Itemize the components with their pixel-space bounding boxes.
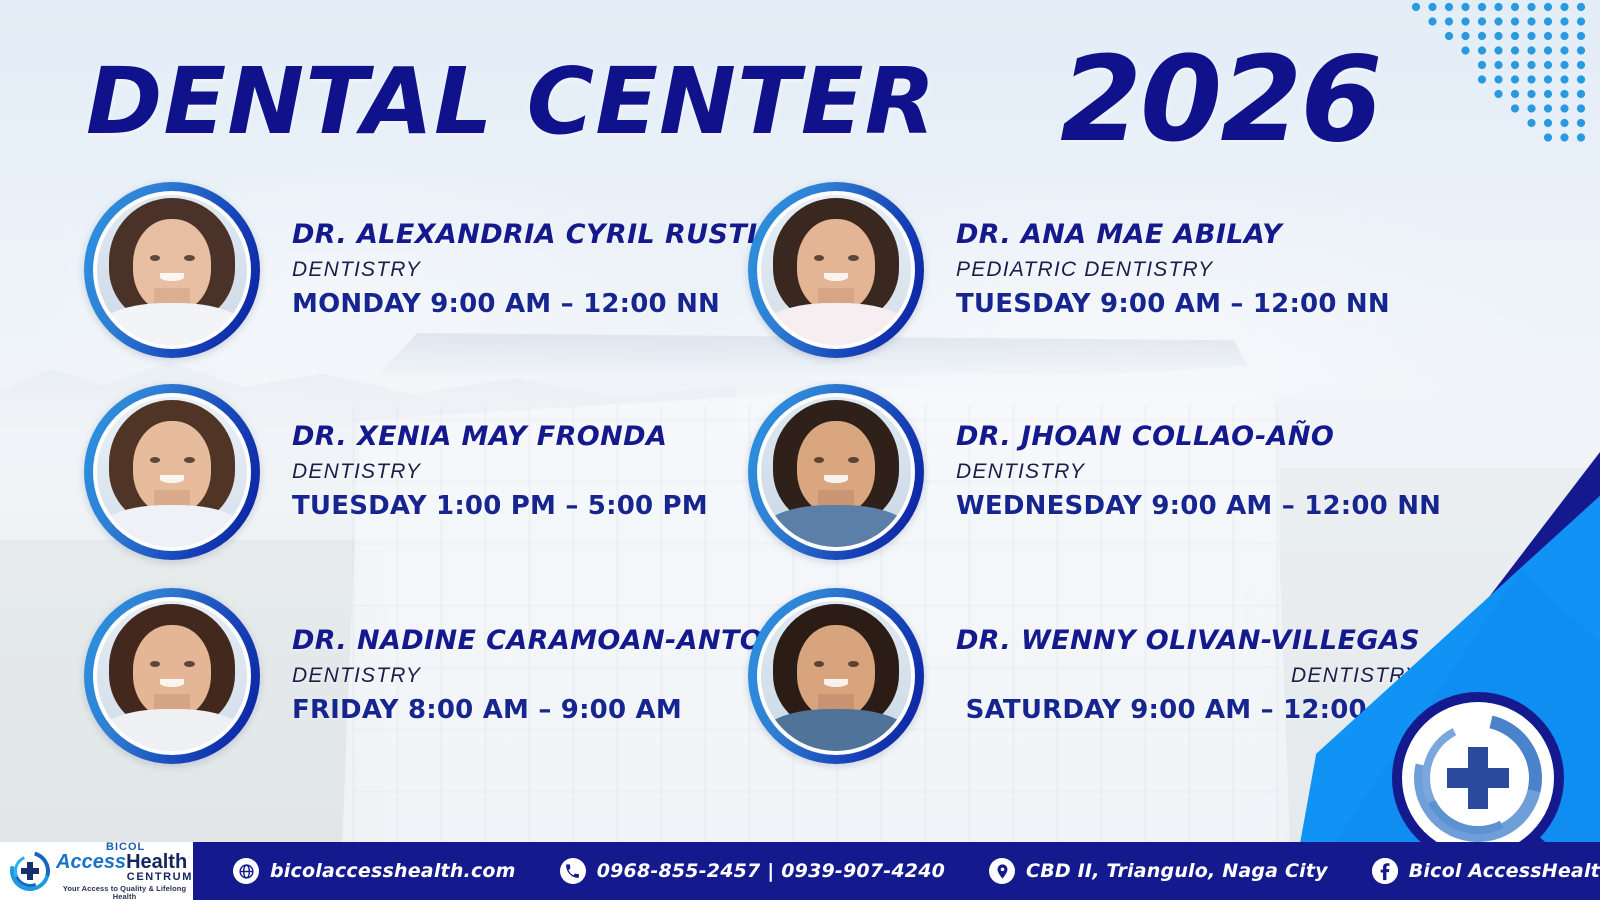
footer-website-text: bicolaccesshealth.com [270, 860, 516, 882]
footer-website[interactable]: bicolaccesshealth.com [233, 858, 516, 884]
medical-cross-badge [1392, 692, 1564, 864]
doctor-schedule: TUESDAY 1:00 PM – 5:00 PM [292, 491, 708, 521]
avatar-ring [748, 384, 924, 560]
doctor-info: DR. ANA MAE ABILAY PEDIATRIC DENTISTRY T… [956, 221, 1390, 318]
schedule-time: 9:00 AM – 12:00 NN [1100, 289, 1390, 319]
doctor-info: DR. ALEXANDRIA CYRIL RUSTIA DENTISTRY MO… [292, 221, 779, 318]
avatar [93, 597, 251, 755]
brand-logo-health: Health [126, 851, 187, 873]
doctor-specialty: DENTISTRY [292, 258, 779, 282]
avatar [757, 191, 915, 349]
doctor-schedule-grid: DR. ALEXANDRIA CYRIL RUSTIA DENTISTRY MO… [0, 182, 1600, 782]
avatar-ring [84, 182, 260, 358]
schedule-day: SATURDAY [966, 695, 1121, 725]
doctor-schedule: TUESDAY 9:00 AM – 12:00 NN [956, 289, 1390, 319]
footer-phone[interactable]: 0968-855-2457 | 0939-907-4240 [560, 858, 945, 884]
doctor-specialty: DENTISTRY [956, 460, 1441, 484]
doctor-specialty: PEDIATRIC DENTISTRY [956, 258, 1390, 282]
schedule-day: MONDAY [292, 289, 421, 319]
doctor-schedule: FRIDAY 8:00 AM – 9:00 AM [292, 695, 820, 725]
schedule-time: 9:00 AM – 12:00 NN [1151, 491, 1441, 521]
facebook-icon [1372, 858, 1398, 884]
doctor-name: DR. NADINE CARAMOAN-ANTONIO [292, 627, 820, 655]
avatar-ring [748, 588, 924, 764]
schedule-day: WEDNESDAY [956, 491, 1142, 521]
footer-phone-text: 0968-855-2457 | 0939-907-4240 [597, 860, 945, 882]
doctor-portrait-jhoan-collao-ano [761, 397, 911, 547]
schedule-day: TUESDAY [956, 289, 1091, 319]
doctor-portrait-xenia-may-fronda [97, 397, 247, 547]
doctor-info: DR. WENNY OLIVAN-VILLEGAS DENTISTRY SATU… [956, 627, 1420, 724]
footer-contact-bar: bicolaccesshealth.com 0968-855-2457 | 09… [193, 842, 1600, 900]
doctor-card[interactable]: DR. ALEXANDRIA CYRIL RUSTIA DENTISTRY MO… [84, 182, 779, 358]
doctor-name: DR. ANA MAE ABILAY [956, 221, 1390, 249]
doctor-card[interactable]: DR. NADINE CARAMOAN-ANTONIO DENTISTRY FR… [84, 588, 820, 764]
avatar [757, 597, 915, 755]
footer-address[interactable]: CBD II, Triangulo, Naga City [989, 858, 1328, 884]
avatar-ring [84, 384, 260, 560]
schedule-time: 1:00 PM – 5:00 PM [436, 491, 708, 521]
avatar [93, 393, 251, 551]
doctor-portrait-alexandria-cyril-rustia [97, 195, 247, 345]
doctor-info: DR. NADINE CARAMOAN-ANTONIO DENTISTRY FR… [292, 627, 820, 724]
brand-logo: BICOL AccessHealth CENTRUM Your Access t… [0, 842, 193, 900]
footer: BICOL AccessHealth CENTRUM Your Access t… [0, 842, 1600, 900]
schedule-day: FRIDAY [292, 695, 399, 725]
brand-logo-line2: AccessHealth [56, 852, 193, 872]
year-label: 2026 [1060, 30, 1380, 168]
schedule-time: 8:00 AM – 9:00 AM [408, 695, 682, 725]
avatar [757, 393, 915, 551]
doctor-info: DR. JHOAN COLLAO-AÑO DENTISTRY WEDNESDAY… [956, 423, 1441, 520]
doctor-card[interactable]: DR. JHOAN COLLAO-AÑO DENTISTRY WEDNESDAY… [748, 384, 1441, 560]
doctor-specialty: DENTISTRY [956, 664, 1420, 688]
doctor-portrait-nadine-caramoan-antonio [97, 601, 247, 751]
doctor-card[interactable]: DR. ANA MAE ABILAY PEDIATRIC DENTISTRY T… [748, 182, 1390, 358]
brand-logo-line3: CENTRUM [56, 872, 193, 883]
medical-cross-icon [1447, 747, 1509, 809]
brand-logo-tagline: Your Access to Quality & Lifelong Health [56, 885, 193, 900]
schedule-time: 9:00 AM – 12:00 NN [430, 289, 720, 319]
doctor-specialty: DENTISTRY [292, 460, 708, 484]
phone-icon [560, 858, 586, 884]
doctor-name: DR. XENIA MAY FRONDA [292, 423, 708, 451]
halftone-dot-pattern-icon [1410, 0, 1600, 150]
dental-center-poster: DENTAL CENTER 2026 DR. [0, 0, 1600, 900]
doctor-portrait-wenny-olivan-villegas [761, 601, 911, 751]
brand-logo-access: Access [56, 851, 126, 873]
doctor-name: DR. JHOAN COLLAO-AÑO [956, 423, 1441, 451]
badge-white-ring [1402, 702, 1554, 854]
footer-address-text: CBD II, Triangulo, Naga City [1026, 860, 1328, 882]
doctor-specialty: DENTISTRY [292, 664, 820, 688]
doctor-name: DR. WENNY OLIVAN-VILLEGAS [956, 627, 1420, 655]
brand-logo-cross-icon [10, 851, 50, 891]
doctor-card[interactable]: DR. XENIA MAY FRONDA DENTISTRY TUESDAY 1… [84, 384, 708, 560]
avatar-ring [84, 588, 260, 764]
doctor-name: DR. ALEXANDRIA CYRIL RUSTIA [292, 221, 779, 249]
page-title: DENTAL CENTER [86, 48, 936, 155]
footer-facebook-text: Bicol AccessHealth Centrum [1409, 860, 1600, 882]
brand-logo-text: BICOL AccessHealth CENTRUM Your Access t… [56, 842, 193, 900]
doctor-card[interactable]: DR. WENNY OLIVAN-VILLEGAS DENTISTRY SATU… [748, 588, 1420, 764]
footer-facebook[interactable]: Bicol AccessHealth Centrum [1372, 858, 1600, 884]
doctor-schedule: WEDNESDAY 9:00 AM – 12:00 NN [956, 491, 1441, 521]
globe-icon [233, 858, 259, 884]
schedule-day: TUESDAY [292, 491, 427, 521]
doctor-schedule: MONDAY 9:00 AM – 12:00 NN [292, 289, 779, 319]
doctor-schedule: SATURDAY 9:00 AM – 12:00 NN [956, 695, 1420, 725]
location-pin-icon [989, 858, 1015, 884]
avatar-ring [748, 182, 924, 358]
doctor-info: DR. XENIA MAY FRONDA DENTISTRY TUESDAY 1… [292, 423, 708, 520]
avatar [93, 191, 251, 349]
doctor-portrait-ana-mae-abilay [761, 195, 911, 345]
badge-center [1430, 730, 1526, 826]
